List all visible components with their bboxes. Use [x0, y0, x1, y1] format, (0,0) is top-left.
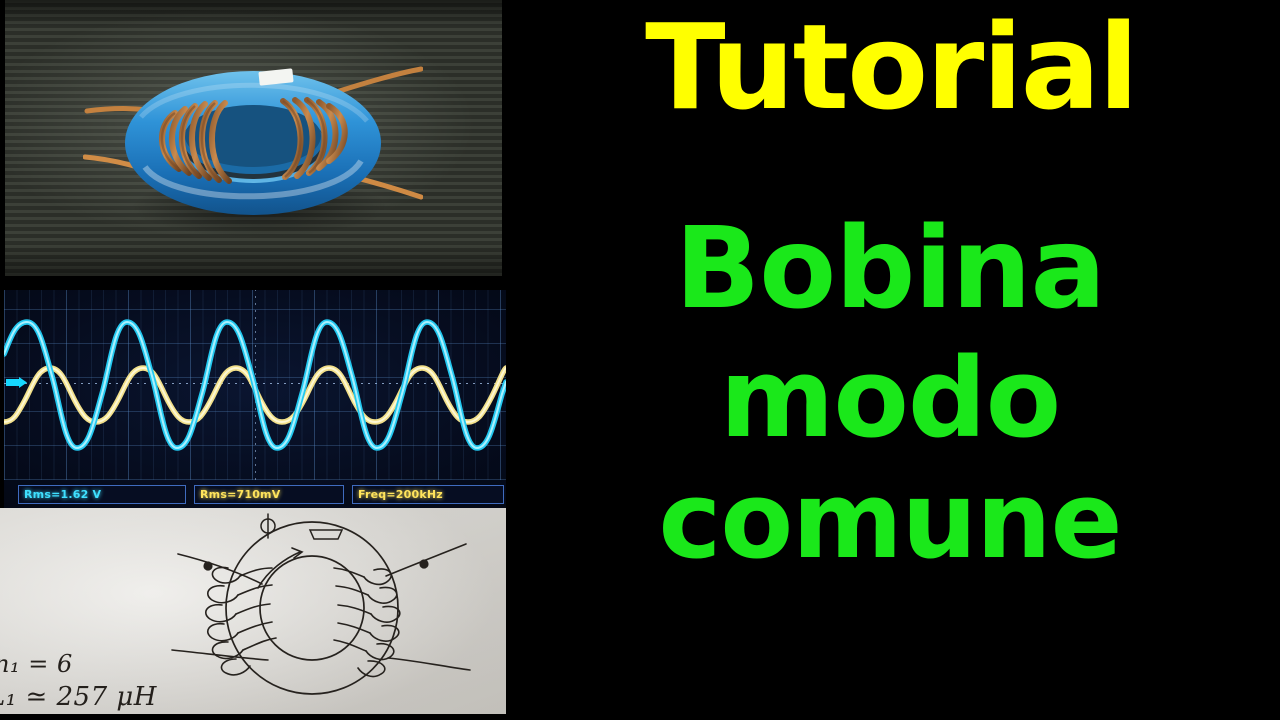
measurement-frequency-label: Freq=200kHz: [358, 488, 443, 501]
photo-left-border: [0, 0, 5, 276]
scope-left-border: [0, 290, 4, 508]
measurement-ch1-rms-label: Rms=1.62 V: [24, 488, 101, 501]
title-line-bobina: Bobina: [506, 215, 1274, 325]
measurement-ch1-rms: Rms=1.62 V: [18, 485, 186, 504]
note-inductance-value: L₁ ≃ 257 μH: [0, 682, 157, 712]
thumbnail-canvas: Rms=1.62 V Rms=710mV Freq=200kHz: [0, 0, 1280, 720]
panel-handwritten-sketch: n₁ = 6 L₁ ≃ 257 μH: [0, 508, 506, 720]
scope-measurement-bar: Rms=1.62 V Rms=710mV Freq=200kHz: [4, 482, 506, 508]
subtitle-block: Bobina modo comune: [506, 215, 1274, 572]
left-image-column: Rms=1.62 V Rms=710mV Freq=200kHz: [0, 0, 506, 720]
scope-screen: Rms=1.62 V Rms=710mV Freq=200kHz: [4, 290, 506, 508]
title-line-modo: modo: [506, 345, 1274, 453]
note-turns-count: n₁ = 6: [0, 650, 73, 678]
measurement-ch2-rms-label: Rms=710mV: [200, 488, 280, 501]
paper-bottom-border: [0, 714, 506, 720]
measurement-frequency: Freq=200kHz: [352, 485, 504, 504]
panel-toroid-photo: [0, 0, 506, 276]
scope-waveforms: [4, 290, 506, 480]
toroid-illustration: [83, 39, 423, 249]
title-line-comune: comune: [506, 469, 1274, 573]
measurement-ch2-rms: Rms=710mV: [194, 485, 344, 504]
toroid-core-photo: [83, 39, 423, 249]
right-title-column: Tutorial Bobina modo comune: [506, 0, 1280, 720]
polarity-dot-right: [419, 559, 428, 568]
panel-oscilloscope: Rms=1.62 V Rms=710mV Freq=200kHz: [0, 290, 506, 508]
polarity-dot-left: [203, 561, 212, 570]
channel-1-trace-cyan: [4, 322, 506, 448]
title-line-tutorial: Tutorial: [506, 8, 1276, 126]
